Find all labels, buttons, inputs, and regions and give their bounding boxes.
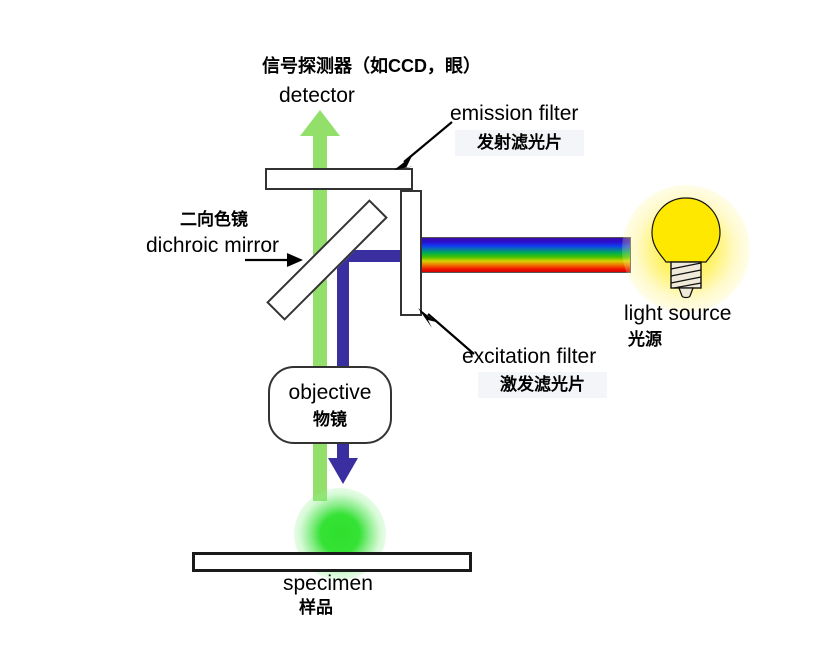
dichroic-mirror-label-cn: 二向色镜 <box>180 210 248 230</box>
emission-filter-element[interactable] <box>265 168 413 190</box>
light-source-label-en: light source <box>624 302 731 326</box>
excitation-filter-label-cn: 激发滤光片 <box>478 372 607 398</box>
detector-arrow-green <box>300 110 340 144</box>
objective-lens[interactable]: objective 物镜 <box>268 366 392 444</box>
emission-filter-label-cn: 发射滤光片 <box>455 130 584 156</box>
specimen-label-en: specimen <box>283 572 373 596</box>
emission-filter-leader-arrow <box>392 120 454 172</box>
objective-label-en: objective <box>289 381 372 405</box>
specimen-slide[interactable] <box>192 552 472 572</box>
specimen-arrow-blue <box>328 450 358 484</box>
objective-label-cn: 物镜 <box>313 405 347 430</box>
lamp-spectrum-beam <box>414 238 630 272</box>
fluorescence-microscope-diagram: objective 物镜 信号探测器（如C <box>0 0 833 645</box>
light-source-label-cn: 光源 <box>628 330 662 350</box>
detector-title-cn: 信号探测器（如CCD，眼） <box>262 56 481 77</box>
detector-label: detector <box>279 84 355 108</box>
excitation-filter-label-en: excitation filter <box>462 345 596 369</box>
emission-filter-label-en: emission filter <box>450 102 578 126</box>
dichroic-mirror-label-en: dichroic mirror <box>146 234 279 258</box>
light-bulb-icon[interactable] <box>644 196 728 302</box>
excitation-filter-element[interactable] <box>400 190 422 316</box>
specimen-label-cn: 样品 <box>299 598 333 618</box>
